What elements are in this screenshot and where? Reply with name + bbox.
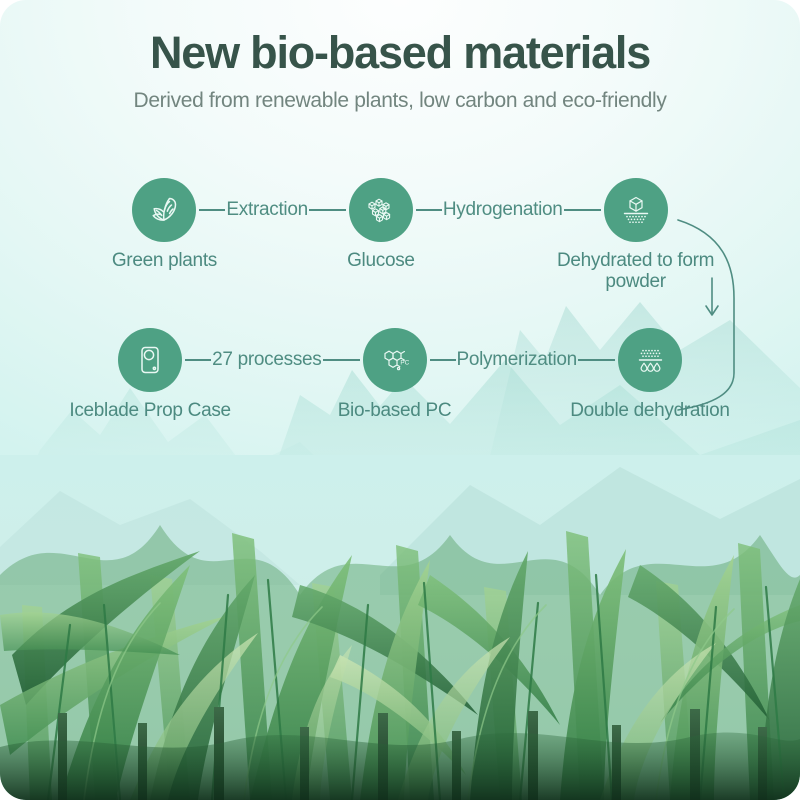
flow-node-dehydrated-powder[interactable]: Dehydrated to form powder — [602, 178, 670, 293]
flow-node-bio-based-pc[interactable]: PC Bio-based PC — [361, 328, 429, 422]
sugarcane-field-photo — [0, 455, 800, 800]
connector-line — [185, 359, 211, 361]
connector-line-tail — [590, 209, 601, 211]
connector-line — [564, 209, 590, 211]
page-title: New bio-based materials — [0, 28, 800, 78]
process-flow-diagram: Green plants Extraction — [0, 178, 800, 458]
flow-node-double-dehydration[interactable]: Double dehydration — [616, 328, 684, 422]
connector-line — [199, 209, 225, 211]
connector-label: Polymerization — [456, 349, 578, 371]
flow-node-glucose[interactable]: Glucose — [347, 178, 415, 272]
connector-label: 27 processes — [211, 349, 322, 371]
sugarcane-illustration — [0, 455, 800, 800]
connector-line-tail — [604, 359, 615, 361]
connector-label: Extraction — [225, 199, 308, 221]
connector-line — [578, 359, 604, 361]
connector-line — [416, 209, 442, 211]
sugar-cubes-icon — [349, 178, 413, 242]
flow-node-green-plants[interactable]: Green plants — [130, 178, 198, 272]
pc-molecule-icon: PC — [363, 328, 427, 392]
flow-row-2: Iceblade Prop Case 27 processes — [0, 328, 800, 448]
page-subtitle: Derived from renewable plants, low carbo… — [0, 89, 800, 113]
connector-line — [309, 209, 335, 211]
connector-line — [430, 359, 456, 361]
flow-connector-extraction: Extraction — [198, 178, 346, 242]
flow-node-iceblade-prop-case[interactable]: Iceblade Prop Case — [116, 328, 184, 422]
connector-label: Hydrogenation — [442, 199, 564, 221]
powder-droplets-icon — [618, 328, 682, 392]
flow-node-label: Bio-based PC — [338, 401, 452, 422]
corn-icon — [132, 178, 196, 242]
flow-node-label: Green plants — [112, 251, 217, 272]
flow-node-label: Glucose — [347, 251, 415, 272]
flow-node-label: Dehydrated to form powder — [551, 251, 721, 293]
infographic-poster: New bio-based materials Derived from ren… — [0, 0, 800, 800]
pc-molecule-label: PC — [400, 360, 409, 367]
connector-line — [323, 359, 349, 361]
flow-node-label: Double dehydration — [570, 401, 729, 422]
connector-line-tail — [335, 209, 346, 211]
flow-connector-hydrogenation: Hydrogenation — [415, 178, 602, 242]
flow-connector-27-processes: 27 processes — [184, 328, 360, 392]
flow-connector-polymerization: Polymerization — [429, 328, 616, 392]
flow-row-1: Green plants Extraction — [0, 178, 800, 298]
header: New bio-based materials Derived from ren… — [0, 28, 800, 113]
connector-line-tail — [349, 359, 360, 361]
flow-node-label: Iceblade Prop Case — [69, 401, 230, 422]
cube-powder-icon — [604, 178, 668, 242]
phone-case-icon — [118, 328, 182, 392]
